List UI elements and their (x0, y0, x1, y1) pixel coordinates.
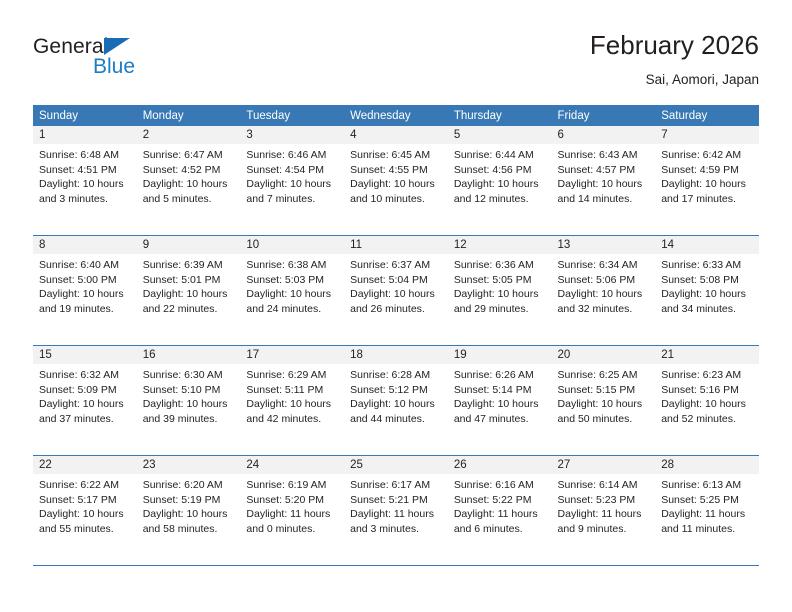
daylight-text-line2: and 37 minutes. (39, 412, 131, 427)
daylight-text-line1: Daylight: 10 hours (143, 177, 235, 192)
day-number: 12 (448, 236, 552, 254)
daylight-text-line1: Daylight: 10 hours (143, 397, 235, 412)
sunrise-text: Sunrise: 6:32 AM (39, 368, 131, 383)
day-cell[interactable]: 22 Sunrise: 6:22 AM Sunset: 5:17 PM Dayl… (33, 456, 137, 566)
sunrise-text: Sunrise: 6:46 AM (246, 148, 338, 163)
week-row: 8 Sunrise: 6:40 AM Sunset: 5:00 PM Dayli… (33, 236, 759, 346)
sunset-text: Sunset: 5:12 PM (350, 383, 442, 398)
daylight-text-line2: and 5 minutes. (143, 192, 235, 207)
daylight-text-line2: and 19 minutes. (39, 302, 131, 317)
daylight-text-line2: and 3 minutes. (39, 192, 131, 207)
daylight-text-line2: and 47 minutes. (454, 412, 546, 427)
sunrise-text: Sunrise: 6:45 AM (350, 148, 442, 163)
day-number: 9 (137, 236, 241, 254)
sunset-text: Sunset: 5:03 PM (246, 273, 338, 288)
day-number: 28 (655, 456, 759, 474)
day-cell[interactable]: 6 Sunrise: 6:43 AM Sunset: 4:57 PM Dayli… (552, 126, 656, 236)
sunset-text: Sunset: 5:23 PM (558, 493, 650, 508)
day-cell[interactable]: 19 Sunrise: 6:26 AM Sunset: 5:14 PM Dayl… (448, 346, 552, 456)
sunrise-text: Sunrise: 6:23 AM (661, 368, 753, 383)
day-cell[interactable]: 21 Sunrise: 6:23 AM Sunset: 5:16 PM Dayl… (655, 346, 759, 456)
daylight-text-line2: and 42 minutes. (246, 412, 338, 427)
day-number: 4 (344, 126, 448, 144)
daylight-text-line1: Daylight: 10 hours (558, 287, 650, 302)
week-row: 1 Sunrise: 6:48 AM Sunset: 4:51 PM Dayli… (33, 126, 759, 236)
day-number: 14 (655, 236, 759, 254)
day-cell[interactable]: 16 Sunrise: 6:30 AM Sunset: 5:10 PM Dayl… (137, 346, 241, 456)
day-cell[interactable]: 12 Sunrise: 6:36 AM Sunset: 5:05 PM Dayl… (448, 236, 552, 346)
daylight-text-line1: Daylight: 10 hours (350, 177, 442, 192)
day-number: 26 (448, 456, 552, 474)
daylight-text-line1: Daylight: 11 hours (558, 507, 650, 522)
day-cell[interactable]: 25 Sunrise: 6:17 AM Sunset: 5:21 PM Dayl… (344, 456, 448, 566)
sunrise-text: Sunrise: 6:42 AM (661, 148, 753, 163)
sunset-text: Sunset: 5:01 PM (143, 273, 235, 288)
day-number: 1 (33, 126, 137, 144)
sunrise-text: Sunrise: 6:38 AM (246, 258, 338, 273)
sunset-text: Sunset: 4:54 PM (246, 163, 338, 178)
page-header: General Blue February 2026 Sai, Aomori, … (33, 30, 759, 98)
sunrise-text: Sunrise: 6:26 AM (454, 368, 546, 383)
sunrise-text: Sunrise: 6:33 AM (661, 258, 753, 273)
sunset-text: Sunset: 5:00 PM (39, 273, 131, 288)
daylight-text-line2: and 14 minutes. (558, 192, 650, 207)
day-number: 24 (240, 456, 344, 474)
daylight-text-line1: Daylight: 10 hours (558, 397, 650, 412)
daylight-text-line2: and 52 minutes. (661, 412, 753, 427)
sunset-text: Sunset: 4:56 PM (454, 163, 546, 178)
daylight-text-line2: and 17 minutes. (661, 192, 753, 207)
daylight-text-line1: Daylight: 10 hours (558, 177, 650, 192)
daylight-text-line1: Daylight: 10 hours (39, 397, 131, 412)
sunset-text: Sunset: 5:20 PM (246, 493, 338, 508)
daylight-text-line2: and 22 minutes. (143, 302, 235, 317)
sunrise-text: Sunrise: 6:39 AM (143, 258, 235, 273)
weekday-header-friday: Friday (552, 105, 656, 126)
sunrise-text: Sunrise: 6:37 AM (350, 258, 442, 273)
day-cell[interactable]: 10 Sunrise: 6:38 AM Sunset: 5:03 PM Dayl… (240, 236, 344, 346)
sunset-text: Sunset: 5:05 PM (454, 273, 546, 288)
sunset-text: Sunset: 5:19 PM (143, 493, 235, 508)
sunrise-text: Sunrise: 6:36 AM (454, 258, 546, 273)
daylight-text-line2: and 11 minutes. (661, 522, 753, 537)
daylight-text-line1: Daylight: 10 hours (246, 287, 338, 302)
weekday-header-thursday: Thursday (448, 105, 552, 126)
sunrise-text: Sunrise: 6:25 AM (558, 368, 650, 383)
daylight-text-line2: and 9 minutes. (558, 522, 650, 537)
sunset-text: Sunset: 5:11 PM (246, 383, 338, 398)
day-number: 5 (448, 126, 552, 144)
brand-name-blue: Blue (93, 55, 135, 79)
day-cell[interactable]: 14 Sunrise: 6:33 AM Sunset: 5:08 PM Dayl… (655, 236, 759, 346)
daylight-text-line1: Daylight: 10 hours (39, 507, 131, 522)
calendar-header-row: Sunday Monday Tuesday Wednesday Thursday… (33, 105, 759, 126)
sunset-text: Sunset: 5:15 PM (558, 383, 650, 398)
day-cell[interactable]: 23 Sunrise: 6:20 AM Sunset: 5:19 PM Dayl… (137, 456, 241, 566)
day-number: 7 (655, 126, 759, 144)
calendar-page: General Blue February 2026 Sai, Aomori, … (0, 0, 792, 612)
sunset-text: Sunset: 5:17 PM (39, 493, 131, 508)
day-number: 27 (552, 456, 656, 474)
weekday-header-sunday: Sunday (33, 105, 137, 126)
day-number: 6 (552, 126, 656, 144)
daylight-text-line1: Daylight: 11 hours (246, 507, 338, 522)
day-cell[interactable]: 7 Sunrise: 6:42 AM Sunset: 4:59 PM Dayli… (655, 126, 759, 236)
sunrise-text: Sunrise: 6:13 AM (661, 478, 753, 493)
daylight-text-line2: and 39 minutes. (143, 412, 235, 427)
daylight-text-line2: and 34 minutes. (661, 302, 753, 317)
day-number: 20 (552, 346, 656, 364)
daylight-text-line1: Daylight: 10 hours (39, 287, 131, 302)
sunset-text: Sunset: 4:59 PM (661, 163, 753, 178)
day-number: 19 (448, 346, 552, 364)
weekday-header-tuesday: Tuesday (240, 105, 344, 126)
daylight-text-line1: Daylight: 10 hours (246, 177, 338, 192)
daylight-text-line2: and 58 minutes. (143, 522, 235, 537)
daylight-text-line1: Daylight: 10 hours (661, 287, 753, 302)
daylight-text-line2: and 55 minutes. (39, 522, 131, 537)
daylight-text-line2: and 24 minutes. (246, 302, 338, 317)
sunrise-text: Sunrise: 6:43 AM (558, 148, 650, 163)
sunrise-text: Sunrise: 6:34 AM (558, 258, 650, 273)
day-number: 25 (344, 456, 448, 474)
sunset-text: Sunset: 5:22 PM (454, 493, 546, 508)
weekday-header-wednesday: Wednesday (344, 105, 448, 126)
brand-triangle-icon (104, 38, 130, 55)
daylight-text-line1: Daylight: 10 hours (661, 177, 753, 192)
day-cell[interactable]: 9 Sunrise: 6:39 AM Sunset: 5:01 PM Dayli… (137, 236, 241, 346)
daylight-text-line2: and 12 minutes. (454, 192, 546, 207)
daylight-text-line1: Daylight: 10 hours (143, 507, 235, 522)
day-number: 21 (655, 346, 759, 364)
sunset-text: Sunset: 5:25 PM (661, 493, 753, 508)
day-cell[interactable]: 3 Sunrise: 6:46 AM Sunset: 4:54 PM Dayli… (240, 126, 344, 236)
sunset-text: Sunset: 5:21 PM (350, 493, 442, 508)
day-cell[interactable]: 2 Sunrise: 6:47 AM Sunset: 4:52 PM Dayli… (137, 126, 241, 236)
daylight-text-line2: and 6 minutes. (454, 522, 546, 537)
day-cell[interactable]: 28 Sunrise: 6:13 AM Sunset: 5:25 PM Dayl… (655, 456, 759, 566)
sunset-text: Sunset: 5:06 PM (558, 273, 650, 288)
day-number: 17 (240, 346, 344, 364)
daylight-text-line2: and 44 minutes. (350, 412, 442, 427)
sunrise-text: Sunrise: 6:47 AM (143, 148, 235, 163)
daylight-text-line2: and 10 minutes. (350, 192, 442, 207)
day-cell[interactable]: 15 Sunrise: 6:32 AM Sunset: 5:09 PM Dayl… (33, 346, 137, 456)
weekday-header-saturday: Saturday (655, 105, 759, 126)
day-number: 23 (137, 456, 241, 474)
daylight-text-line1: Daylight: 10 hours (246, 397, 338, 412)
day-cell[interactable]: 8 Sunrise: 6:40 AM Sunset: 5:00 PM Dayli… (33, 236, 137, 346)
daylight-text-line2: and 0 minutes. (246, 522, 338, 537)
sunset-text: Sunset: 4:57 PM (558, 163, 650, 178)
daylight-text-line1: Daylight: 10 hours (661, 397, 753, 412)
calendar-table: Sunday Monday Tuesday Wednesday Thursday… (33, 105, 759, 566)
daylight-text-line1: Daylight: 10 hours (143, 287, 235, 302)
page-title: February 2026 (590, 30, 759, 61)
daylight-text-line1: Daylight: 11 hours (350, 507, 442, 522)
sunrise-text: Sunrise: 6:14 AM (558, 478, 650, 493)
day-number: 15 (33, 346, 137, 364)
day-cell[interactable]: 1 Sunrise: 6:48 AM Sunset: 4:51 PM Dayli… (33, 126, 137, 236)
day-cell[interactable]: 26 Sunrise: 6:16 AM Sunset: 5:22 PM Dayl… (448, 456, 552, 566)
daylight-text-line2: and 3 minutes. (350, 522, 442, 537)
day-number: 18 (344, 346, 448, 364)
daylight-text-line1: Daylight: 10 hours (454, 287, 546, 302)
sunset-text: Sunset: 5:09 PM (39, 383, 131, 398)
sunset-text: Sunset: 4:52 PM (143, 163, 235, 178)
day-cell[interactable]: 11 Sunrise: 6:37 AM Sunset: 5:04 PM Dayl… (344, 236, 448, 346)
day-cell[interactable]: 5 Sunrise: 6:44 AM Sunset: 4:56 PM Dayli… (448, 126, 552, 236)
day-cell[interactable]: 20 Sunrise: 6:25 AM Sunset: 5:15 PM Dayl… (552, 346, 656, 456)
day-cell[interactable]: 4 Sunrise: 6:45 AM Sunset: 4:55 PM Dayli… (344, 126, 448, 236)
sunset-text: Sunset: 5:04 PM (350, 273, 442, 288)
daylight-text-line1: Daylight: 11 hours (454, 507, 546, 522)
sunrise-text: Sunrise: 6:44 AM (454, 148, 546, 163)
day-cell[interactable]: 18 Sunrise: 6:28 AM Sunset: 5:12 PM Dayl… (344, 346, 448, 456)
sunset-text: Sunset: 5:16 PM (661, 383, 753, 398)
weekday-header-monday: Monday (137, 105, 241, 126)
daylight-text-line1: Daylight: 10 hours (39, 177, 131, 192)
sunrise-text: Sunrise: 6:40 AM (39, 258, 131, 273)
daylight-text-line2: and 32 minutes. (558, 302, 650, 317)
sunset-text: Sunset: 5:10 PM (143, 383, 235, 398)
daylight-text-line2: and 26 minutes. (350, 302, 442, 317)
day-number: 3 (240, 126, 344, 144)
sunrise-text: Sunrise: 6:30 AM (143, 368, 235, 383)
sunrise-text: Sunrise: 6:20 AM (143, 478, 235, 493)
sunrise-text: Sunrise: 6:16 AM (454, 478, 546, 493)
sunset-text: Sunset: 5:14 PM (454, 383, 546, 398)
daylight-text-line2: and 7 minutes. (246, 192, 338, 207)
daylight-text-line1: Daylight: 10 hours (350, 397, 442, 412)
daylight-text-line1: Daylight: 10 hours (454, 177, 546, 192)
day-cell[interactable]: 17 Sunrise: 6:29 AM Sunset: 5:11 PM Dayl… (240, 346, 344, 456)
daylight-text-line1: Daylight: 10 hours (454, 397, 546, 412)
day-number: 22 (33, 456, 137, 474)
calendar-body: 1 Sunrise: 6:48 AM Sunset: 4:51 PM Dayli… (33, 126, 759, 566)
day-cell[interactable]: 24 Sunrise: 6:19 AM Sunset: 5:20 PM Dayl… (240, 456, 344, 566)
day-number: 11 (344, 236, 448, 254)
sunrise-text: Sunrise: 6:29 AM (246, 368, 338, 383)
day-number: 8 (33, 236, 137, 254)
daylight-text-line1: Daylight: 11 hours (661, 507, 753, 522)
day-number: 2 (137, 126, 241, 144)
daylight-text-line2: and 50 minutes. (558, 412, 650, 427)
sunset-text: Sunset: 4:51 PM (39, 163, 131, 178)
week-row: 15 Sunrise: 6:32 AM Sunset: 5:09 PM Dayl… (33, 346, 759, 456)
sunrise-text: Sunrise: 6:28 AM (350, 368, 442, 383)
day-number: 16 (137, 346, 241, 364)
daylight-text-line2: and 29 minutes. (454, 302, 546, 317)
daylight-text-line1: Daylight: 10 hours (350, 287, 442, 302)
sunset-text: Sunset: 5:08 PM (661, 273, 753, 288)
day-number: 10 (240, 236, 344, 254)
brand-logo[interactable]: General Blue (33, 35, 233, 87)
sunrise-text: Sunrise: 6:19 AM (246, 478, 338, 493)
day-cell[interactable]: 13 Sunrise: 6:34 AM Sunset: 5:06 PM Dayl… (552, 236, 656, 346)
day-cell[interactable]: 27 Sunrise: 6:14 AM Sunset: 5:23 PM Dayl… (552, 456, 656, 566)
sunrise-text: Sunrise: 6:17 AM (350, 478, 442, 493)
page-subtitle-location: Sai, Aomori, Japan (646, 72, 759, 87)
sunrise-text: Sunrise: 6:48 AM (39, 148, 131, 163)
day-number: 13 (552, 236, 656, 254)
sunset-text: Sunset: 4:55 PM (350, 163, 442, 178)
week-row: 22 Sunrise: 6:22 AM Sunset: 5:17 PM Dayl… (33, 456, 759, 566)
sunrise-text: Sunrise: 6:22 AM (39, 478, 131, 493)
